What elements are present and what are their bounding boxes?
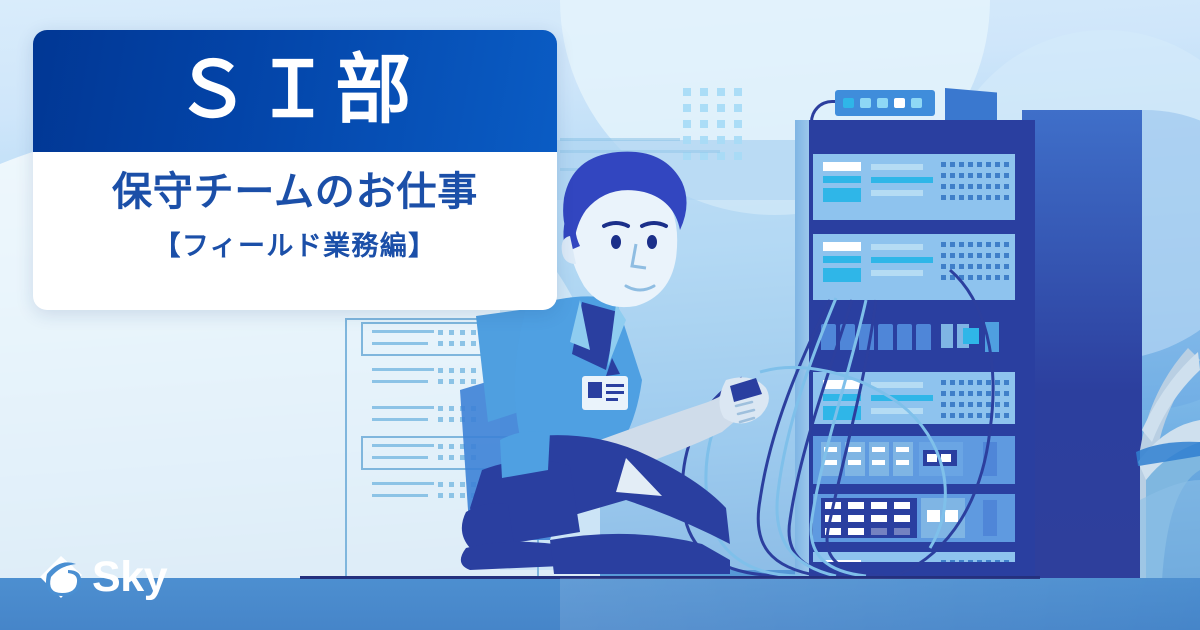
title-card-header: ＳＩ部 bbox=[33, 30, 557, 152]
device-box bbox=[945, 88, 997, 120]
background-server-line bbox=[372, 380, 428, 383]
network-switch bbox=[835, 90, 935, 116]
background-server-line bbox=[372, 494, 428, 497]
floor-sheen bbox=[560, 578, 1200, 630]
sky-diamond-mark bbox=[38, 554, 84, 600]
background-server-line bbox=[372, 342, 428, 345]
page-title: ＳＩ部 bbox=[174, 53, 416, 129]
background-server-line bbox=[372, 368, 434, 371]
sky-logo-text: Sky bbox=[92, 556, 167, 599]
background-server-line bbox=[372, 406, 434, 409]
background-server-line bbox=[372, 330, 434, 333]
subtitle-bracket: 【フィールド業務編】 bbox=[154, 224, 437, 263]
title-card-body: 保守チームのお仕事 【フィールド業務編】 bbox=[33, 152, 557, 310]
background-server-line bbox=[372, 444, 434, 447]
background-server-line bbox=[372, 482, 434, 485]
plant-fronds bbox=[1080, 330, 1200, 580]
poster-canvas: ＳＩ部 保守チームのお仕事 【フィールド業務編】 Sky bbox=[0, 0, 1200, 630]
title-card: ＳＩ部 保守チームのお仕事 【フィールド業務編】 bbox=[33, 30, 557, 310]
background-server-line bbox=[372, 418, 428, 421]
sky-logo: Sky bbox=[38, 553, 167, 601]
subtitle: 保守チームのお仕事 bbox=[112, 168, 478, 216]
background-server-line bbox=[372, 456, 428, 459]
